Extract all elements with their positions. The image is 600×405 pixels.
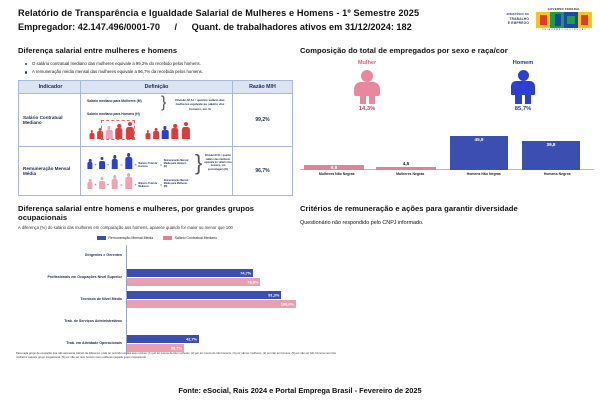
- gov-logo-top-text: GOVERNO FEDERAL: [536, 7, 592, 11]
- legend-swatch-icon: [97, 236, 106, 240]
- pay-gap-title: Diferença salarial entre mulheres e home…: [18, 46, 292, 55]
- column-header-ratio: Razão M/H: [233, 81, 293, 94]
- bar-mulheres-nao-negras: 9,8: [304, 165, 364, 170]
- pay-gap-bullet-list: O salário contratual mediano das mulhere…: [24, 60, 292, 76]
- person-icon: [124, 173, 133, 189]
- equals-icon: =: [120, 162, 122, 169]
- employer-cnpj: Empregador: 42.147.496/0001-70: [18, 22, 160, 32]
- occupational-section: Diferença salarial entre homens e mulher…: [18, 204, 296, 355]
- occ-bars-empty: [126, 311, 296, 333]
- legend-label: Salário Contratual Mediano: [175, 236, 217, 240]
- occ-category-label: Trab. em Atividade Operacionais: [18, 342, 126, 346]
- occ-bar-monthly: 91,3%: [127, 291, 281, 299]
- composition-section: Composição do total de empregados por se…: [300, 46, 594, 176]
- def-label-avg-women: Remuneração Mensal Média para Mulheres (…: [164, 180, 190, 189]
- person-icon: [145, 130, 151, 139]
- plus-icon: +: [95, 162, 97, 169]
- cell-definition-monthly-pay: + + = + Número Total de Homens = Remuner…: [81, 147, 233, 196]
- person-icon: [153, 128, 160, 139]
- def-label-total-women: Número Total de Mulheres: [138, 183, 158, 190]
- definition-diagram-median: Salário mediano para Mulheres (M) Salári…: [83, 96, 230, 144]
- brasil-flag-mark: [536, 12, 592, 28]
- person-icon: [111, 175, 119, 189]
- woman-block: Mulher 14,3%: [322, 60, 412, 112]
- person-icon: [124, 153, 133, 169]
- person-icon: [181, 122, 191, 139]
- person-icon: [98, 157, 105, 169]
- occ-bar-monthly: 74,7%: [127, 269, 253, 277]
- occ-bar-median: 78,9%: [127, 278, 260, 286]
- man-block: Homem 85,7%: [478, 60, 568, 112]
- person-icon: [98, 177, 105, 189]
- bar-value: 42,7%: [186, 336, 197, 341]
- woman-label: Mulher: [322, 60, 412, 66]
- federal-government-logo: GOVERNO FEDERAL U N I Ã O E R E C O N S …: [536, 7, 592, 31]
- definition-diagram-monthly: + + = + Número Total de Homens = Remuner…: [83, 149, 230, 193]
- table-row: Remuneração Mensal Média + + =: [19, 147, 293, 196]
- bar-value: 33,7%: [171, 345, 182, 350]
- list-item: A remuneração média mensal das mulheres …: [24, 68, 292, 76]
- people-row-women-sum: + + = + Número Total de Mulheres = Remun…: [87, 173, 190, 189]
- column-header-indicator: Indicador: [19, 81, 81, 94]
- axis-label: Mulheres Não Negras: [300, 172, 374, 176]
- occ-bar-monthly: 42,7%: [127, 335, 199, 343]
- person-icon: [87, 159, 93, 169]
- plus-icon: +: [107, 162, 109, 169]
- def-label-avg-men: Remuneração Mensal Média para Homens (H): [164, 160, 190, 169]
- people-row-men: [145, 122, 191, 139]
- def-note-median: Divisão M /H = quanto salário das mulher…: [171, 98, 229, 111]
- pay-gap-section: Diferença salarial entre mulheres e home…: [18, 46, 292, 196]
- gender-pictogram-area: Mulher 14,3% Homem 85,7%: [300, 60, 594, 122]
- man-icon: [508, 70, 538, 104]
- cell-ratio-median-salary: 99,2%: [233, 94, 293, 147]
- bar-value: 4,5: [376, 161, 436, 166]
- bar-value: 100,0%: [281, 301, 294, 306]
- occ-category-label: Profissionais em Ocupações Nível Superio…: [18, 276, 126, 280]
- brace-icon: }: [195, 153, 202, 173]
- government-logos: MINISTÉRIO DO TRABALHO E EMPREGO GOVERNO…: [507, 7, 592, 31]
- def-note-monthly: Divisão M /H = quanto salário das mulher…: [203, 154, 233, 171]
- occ-bar-median: 100,0%: [127, 300, 296, 308]
- person-icon: [161, 126, 169, 139]
- plus-icon: +: [135, 182, 137, 189]
- bar-value: 9,8: [304, 165, 364, 170]
- column-header-definition: Definição: [81, 81, 233, 94]
- plus-icon: +: [95, 182, 97, 189]
- bar-homens-nao-negras: 45,9: [450, 136, 508, 170]
- person-icon: [171, 124, 180, 139]
- occ-row-profissionais: Profissionais em Ocupações Nível Superio…: [18, 267, 296, 289]
- active-workers-count: Quant. de trabalhadores ativos em 31/12/…: [192, 22, 412, 32]
- occ-category-label: Técnicos de Nível Médio: [18, 298, 126, 302]
- race-composition-chart: 9,8 4,5 45,9 39,8: [300, 122, 594, 170]
- bar-value: 78,9%: [247, 279, 258, 284]
- bar-value: 74,7%: [240, 270, 251, 275]
- def-label-total-men: Número Total de Homens: [138, 163, 158, 170]
- bar-mulheres-negras: 4,5: [376, 167, 436, 170]
- occupational-legend: Remuneração Mensal Média Salário Contrat…: [18, 236, 296, 240]
- report-page: Relatório de Transparência e Igualdade S…: [0, 0, 600, 405]
- table-header-row: Indicador Definição Razão M/H: [19, 81, 293, 94]
- person-icon: [87, 179, 93, 189]
- page-title: Relatório de Transparência e Igualdade S…: [18, 8, 419, 18]
- occ-row-tecnicos: Técnicos de Nível Médio 91,3% 100,0%: [18, 289, 296, 311]
- occ-row-dirigentes: Dirigentes e Gerentes: [18, 245, 296, 267]
- cell-indicator-median-salary: Salário Contratual Mediano: [19, 94, 81, 147]
- brace-icon: }: [161, 96, 166, 110]
- criteria-title: Critérios de remuneração e ações para ga…: [300, 204, 594, 213]
- cell-ratio-monthly-pay: 96,7%: [233, 147, 293, 196]
- criteria-text: Questionário não respondido pelo CNPJ in…: [300, 220, 594, 226]
- axis-label: Mulheres Negras: [374, 172, 448, 176]
- race-composition-labels: Mulheres Não Negras Mulheres Negras Home…: [300, 172, 594, 176]
- bar-value: 91,3%: [268, 292, 279, 297]
- cell-definition-median-salary: Salário mediano para Mulheres (M) Salári…: [81, 94, 233, 147]
- def-median-men-line: Salário mediano para Homens (H): [87, 112, 140, 116]
- employer-line: Empregador: 42.147.496/0001-70 / Quant. …: [18, 22, 412, 32]
- people-row-men-sum: + + = + Número Total de Homens = Remuner…: [87, 153, 190, 169]
- woman-icon: [352, 70, 382, 104]
- ministry-of-labor-logo: MINISTÉRIO DO TRABALHO E EMPREGO: [507, 13, 529, 24]
- criteria-section: Critérios de remuneração e ações para ga…: [300, 204, 594, 226]
- equals-icon: =: [120, 182, 122, 189]
- footnote: Para cada grupo de ocupação que não apre…: [16, 352, 336, 360]
- pictogram-group-men: [145, 122, 191, 139]
- occ-category-label: Trab. de Serviços Administrativos: [18, 320, 126, 324]
- axis-label: Homens Não Negras: [447, 172, 521, 176]
- source-line: Fonte: eSocial, Rais 2024 e Portal Empre…: [0, 386, 600, 395]
- median-highlight-box: [101, 120, 135, 140]
- legend-swatch-icon: [163, 236, 172, 240]
- bar-value: 45,9: [450, 137, 508, 142]
- employer-separator: /: [163, 22, 190, 32]
- occ-category-label: Dirigentes e Gerentes: [18, 254, 126, 258]
- plus-icon: +: [135, 162, 137, 169]
- table-row: Salário Contratual Mediano Salário media…: [19, 94, 293, 147]
- legend-item-median-salary: Salário Contratual Mediano: [163, 236, 217, 240]
- person-icon: [89, 130, 95, 139]
- occupational-chart: Dirigentes e Gerentes Profissionais em O…: [18, 245, 296, 355]
- occupational-title: Diferença salarial entre homens e mulher…: [18, 204, 296, 222]
- ministry-logo-line3: E EMPREGO: [507, 21, 529, 25]
- legend-item-monthly-pay: Remuneração Mensal Média: [97, 236, 153, 240]
- man-label: Homem: [478, 60, 568, 66]
- report-header: Relatório de Transparência e Igualdade S…: [0, 0, 600, 40]
- pictogram-group-women: [89, 122, 135, 139]
- def-median-women-line: Salário mediano para Mulheres (M): [87, 99, 142, 103]
- list-item: O salário contratual mediano das mulhere…: [24, 60, 292, 68]
- axis-label: Homens Negros: [521, 172, 595, 176]
- occ-bar-median: 33,7%: [127, 344, 184, 352]
- plus-icon: +: [107, 182, 109, 189]
- occupational-subtitle: A diferença (%) do salário das mulheres …: [18, 225, 296, 230]
- man-percentage: 85,7%: [478, 106, 568, 112]
- cell-indicator-monthly-pay: Remuneração Mensal Média: [19, 147, 81, 196]
- equals-icon: =: [160, 162, 162, 169]
- occ-bars-empty: [126, 245, 296, 267]
- bar-value: 39,8: [522, 142, 580, 147]
- pay-gap-table: Indicador Definição Razão M/H Salário Co…: [18, 80, 293, 196]
- gov-logo-bottom-text: U N I Ã O E R E C O N S T R U Ç Ã O: [536, 29, 592, 31]
- bar-homens-negros: 39,8: [522, 141, 580, 170]
- person-icon: [111, 155, 119, 169]
- woman-percentage: 14,3%: [322, 106, 412, 112]
- composition-title: Composição do total de empregados por se…: [300, 46, 594, 55]
- equals-icon: =: [160, 182, 162, 189]
- occ-row-administrativos: Trab. de Serviços Administrativos: [18, 311, 296, 333]
- legend-label: Remuneração Mensal Média: [108, 236, 153, 240]
